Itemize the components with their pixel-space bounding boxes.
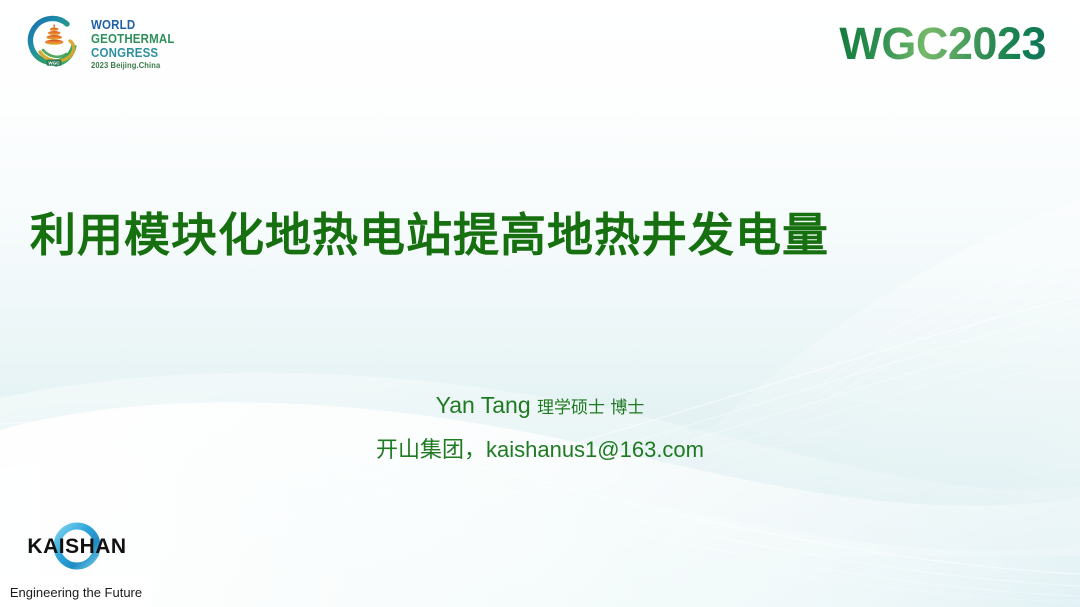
- wgc-wordmark-text: WORLD GEOTHERMAL CONGRESS 2023 Beijing.C…: [91, 17, 182, 70]
- wgc-wordmark-line2: GEOTHERMAL: [91, 33, 175, 46]
- svg-text:WGC: WGC: [48, 60, 60, 65]
- author-affiliation-email: 开山集团，kaishanus1@163.com: [0, 432, 1080, 464]
- kaishan-tagline: Engineering the Future: [0, 577, 152, 607]
- presentation-slide: WGC WORLD GEOTHERMAL CONGRESS 2023 Beiji…: [0, 0, 1080, 607]
- svg-text:KAISHAN: KAISHAN: [27, 535, 126, 558]
- kaishan-company-logo: KAISHAN Engineering the Future: [0, 517, 152, 607]
- wgc-congress-logo: WGC WORLD GEOTHERMAL CONGRESS 2023 Beiji…: [26, 14, 182, 72]
- wgc-wordmark-line3: CONGRESS: [91, 47, 175, 60]
- wgc-circular-pagoda-icon: WGC: [26, 14, 84, 72]
- kaishan-ring-icon: KAISHAN: [18, 519, 136, 575]
- author-degrees: 理学硕士 博士: [537, 398, 644, 418]
- author-name: Yan Tang: [436, 392, 531, 418]
- wgc-wordmark-line4: 2023 Beijing.China: [91, 62, 177, 70]
- slide-header: WGC WORLD GEOTHERMAL CONGRESS 2023 Beiji…: [0, 0, 1080, 96]
- author-block: Yan Tang 理学硕士 博士 开山集团，kaishanus1@163.com: [0, 392, 1080, 464]
- wgc-wordmark-line1: WORLD: [91, 19, 175, 32]
- event-badge: WGC2023: [839, 18, 1046, 70]
- author-name-line: Yan Tang 理学硕士 博士: [0, 392, 1080, 419]
- page-title: 利用模块化地热电站提高地热井发电量: [30, 207, 1050, 263]
